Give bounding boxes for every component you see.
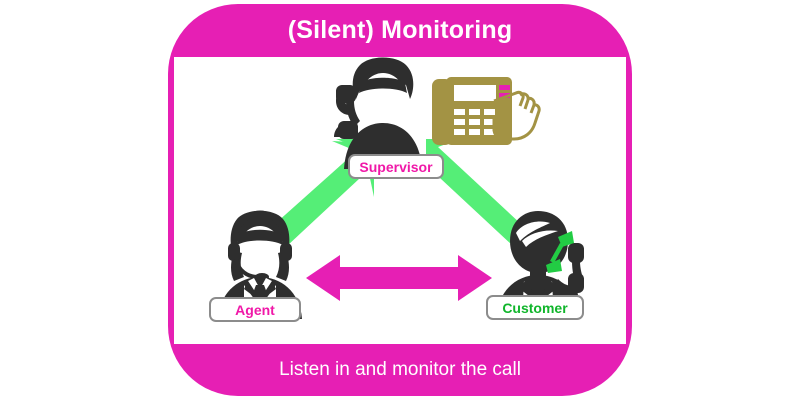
footer-caption: Listen in and monitor the call xyxy=(279,359,521,381)
label-supervisor-text: Supervisor xyxy=(359,159,432,175)
arrow-agent-customer-bidirectional xyxy=(306,253,492,303)
monitoring-panel: (Silent) Monitoring xyxy=(168,4,632,396)
label-customer-text: Customer xyxy=(502,300,567,316)
panel-footer: Listen in and monitor the call xyxy=(168,344,632,396)
diagram-canvas: (Silent) Monitoring xyxy=(0,0,800,400)
label-supervisor[interactable]: Supervisor xyxy=(348,154,444,179)
page-title: (Silent) Monitoring xyxy=(288,16,513,45)
node-supervisor-figure xyxy=(324,57,442,169)
diagram-inner-canvas: Supervisor Agent Customer xyxy=(174,57,626,344)
person-with-handset-icon xyxy=(334,58,422,170)
desk-phone-with-hand-icon xyxy=(432,73,544,151)
phone-key-magenta-1 xyxy=(499,85,510,90)
label-customer[interactable]: Customer xyxy=(486,295,584,320)
panel-header: (Silent) Monitoring xyxy=(168,4,632,57)
label-agent[interactable]: Agent xyxy=(209,297,301,322)
label-agent-text: Agent xyxy=(235,302,275,318)
